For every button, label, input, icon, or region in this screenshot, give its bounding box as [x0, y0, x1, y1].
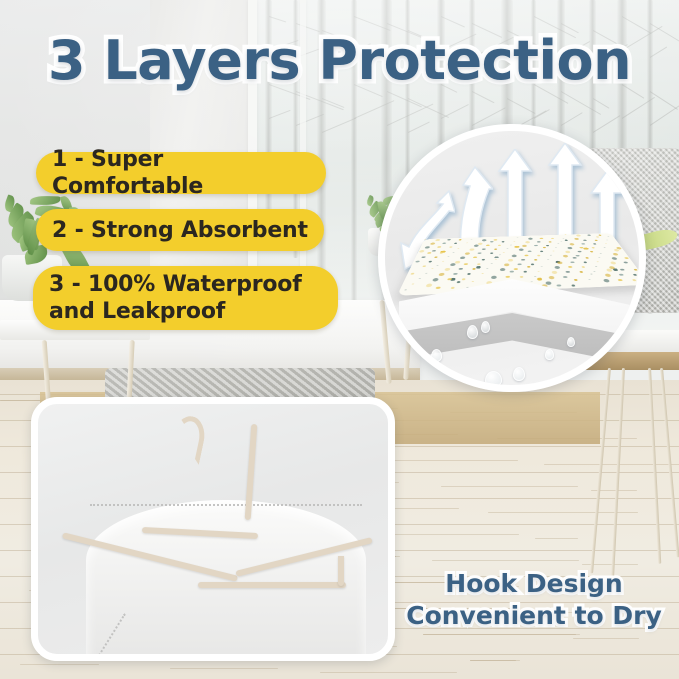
floral-motif	[579, 271, 583, 273]
floral-motif	[633, 274, 638, 276]
floral-motif	[548, 276, 554, 279]
floral-motif	[574, 279, 578, 281]
floral-motif	[585, 257, 589, 259]
floral-motif	[465, 252, 470, 255]
floral-motif	[569, 243, 575, 245]
floral-motif	[472, 268, 475, 270]
hanger-hook-icon	[168, 413, 209, 465]
benefit-pill-1-label: 1 - Super Comfortable	[36, 146, 326, 200]
floral-motif	[473, 256, 477, 258]
wood-grain	[170, 668, 278, 669]
floral-motif	[596, 236, 599, 237]
floral-motif	[500, 268, 505, 271]
floral-motif	[612, 253, 618, 256]
floral-motif	[522, 245, 527, 247]
water-droplet-icon	[545, 349, 554, 360]
floral-motif	[415, 261, 420, 263]
floral-motif	[623, 262, 628, 264]
floral-motif	[583, 261, 587, 263]
floral-motif	[537, 255, 540, 257]
floral-motif	[494, 248, 497, 250]
floral-motif	[469, 248, 474, 251]
floral-motif	[490, 252, 493, 254]
floral-motif	[552, 251, 554, 252]
floral-motif	[604, 274, 611, 277]
floral-motif	[519, 248, 524, 251]
floral-motif	[534, 259, 537, 261]
floral-motif	[464, 263, 468, 265]
benefit-pill-2: 2 - Strong Absorbent	[36, 209, 324, 251]
floral-motif	[491, 263, 493, 264]
floral-motif	[490, 241, 494, 242]
three-layer-callout-circle	[378, 124, 646, 392]
floral-motif	[451, 287, 455, 289]
floral-motif	[583, 240, 587, 241]
floral-motif	[610, 262, 617, 265]
floral-motif	[462, 278, 466, 280]
waterproof-sheet	[86, 500, 366, 661]
floral-motif	[531, 263, 534, 265]
floral-motif	[486, 268, 488, 269]
wood-grain	[432, 560, 579, 561]
floral-motif	[546, 245, 549, 246]
floral-motif	[597, 262, 599, 263]
floral-motif	[499, 255, 501, 256]
wood-grain	[441, 486, 578, 487]
floral-motif	[520, 276, 524, 278]
floral-motif	[594, 240, 597, 241]
sheet-hem	[90, 504, 362, 506]
floral-motif	[545, 281, 551, 285]
water-droplet-icon	[431, 349, 442, 362]
floral-motif	[436, 265, 438, 266]
floral-motif	[427, 252, 432, 254]
floral-motif	[508, 259, 513, 262]
floral-motif	[412, 284, 415, 285]
floral-motif	[587, 235, 591, 236]
floral-motif	[482, 273, 484, 274]
hanger-corner	[338, 556, 344, 586]
floral-motif	[555, 247, 557, 248]
floral-motif	[430, 243, 436, 245]
floral-motif	[424, 246, 430, 248]
floral-motif	[447, 278, 452, 280]
floral-motif	[477, 263, 480, 265]
floral-motif	[458, 268, 463, 270]
floral-motif	[543, 247, 546, 248]
floral-motif	[590, 274, 592, 275]
floral-motif	[453, 273, 458, 275]
floral-motif	[540, 251, 543, 253]
floral-motif	[571, 284, 575, 286]
floral-motif	[410, 273, 414, 275]
floral-motif	[531, 281, 533, 282]
hanger-crossbar	[198, 582, 346, 588]
wood-grain	[470, 660, 516, 661]
floral-motif	[517, 263, 521, 265]
floral-motif	[494, 239, 498, 240]
floral-motif	[482, 239, 487, 241]
benefit-pill-2-label: 2 - Strong Absorbent	[36, 217, 324, 244]
floral-motif	[534, 276, 536, 277]
floral-motif	[505, 276, 509, 278]
floral-motif	[467, 273, 471, 275]
floral-motif	[534, 245, 538, 246]
floral-motif	[472, 281, 474, 282]
floral-motif	[588, 279, 590, 280]
floral-motif	[434, 256, 438, 258]
floral-motif	[431, 268, 433, 269]
floral-motif	[514, 268, 518, 270]
floral-motif	[598, 257, 600, 258]
wood-grain	[535, 538, 578, 539]
floral-motif	[619, 274, 624, 276]
floral-motif	[576, 234, 581, 236]
benefit-pill-3: 3 - 100% Waterproof and Leakproof	[33, 266, 338, 330]
floral-motif	[541, 266, 543, 267]
water-droplet-icon	[467, 325, 478, 339]
floral-motif	[449, 246, 452, 247]
floral-motif	[507, 249, 509, 250]
wood-grain	[320, 672, 457, 673]
floral-motif	[455, 261, 461, 264]
floral-motif	[537, 271, 539, 272]
floral-motif	[605, 243, 607, 244]
floral-motif	[478, 252, 482, 254]
floral-motif	[540, 238, 544, 239]
wood-grain	[385, 534, 519, 535]
floral-motif	[442, 243, 446, 244]
wood-grain	[423, 634, 576, 635]
floral-motif	[421, 256, 426, 258]
floral-motif	[581, 266, 585, 268]
floral-motif	[482, 248, 486, 250]
floral-motif	[551, 271, 557, 274]
floral-motif	[577, 251, 581, 253]
hanger-hook-photo	[31, 397, 395, 661]
hook-caption-line1: Hook Design	[398, 568, 670, 600]
floral-motif	[593, 271, 595, 272]
water-droplet-icon	[481, 321, 490, 333]
floral-motif	[491, 276, 497, 279]
floral-motif	[603, 279, 610, 283]
water-droplet-icon	[485, 371, 502, 387]
floral-motif	[593, 243, 596, 244]
floral-motif	[557, 261, 563, 264]
floral-motif	[419, 278, 422, 279]
floral-motif	[624, 257, 629, 259]
wood-grain	[394, 460, 518, 461]
floral-motif	[568, 266, 573, 268]
floral-motif	[556, 284, 561, 286]
floral-motif	[527, 266, 530, 268]
floral-motif	[498, 245, 501, 246]
floral-motif	[512, 255, 517, 258]
floral-motif	[554, 266, 560, 269]
benefit-pill-3-label: 3 - 100% Waterproof and Leakproof	[33, 271, 338, 325]
floral-motif	[454, 243, 457, 244]
floral-motif	[537, 241, 541, 242]
floral-motif	[447, 239, 451, 240]
wood-grain	[20, 664, 99, 665]
floral-motif	[432, 278, 439, 282]
floral-motif	[438, 273, 444, 276]
floral-motif	[575, 255, 580, 257]
floral-motif	[549, 241, 552, 242]
floral-motif	[524, 271, 527, 273]
floral-motif	[457, 281, 461, 283]
floral-motif	[521, 259, 525, 261]
floral-motif	[524, 255, 528, 257]
floral-motif	[565, 251, 571, 254]
floral-motif	[447, 256, 449, 257]
floral-motif	[460, 256, 466, 259]
floral-motif	[590, 251, 594, 253]
floral-motif	[435, 239, 440, 241]
wood-grain	[573, 638, 639, 639]
floral-motif	[442, 261, 444, 262]
floral-motif	[435, 287, 440, 289]
floral-motif	[457, 248, 459, 249]
floral-motif	[611, 257, 618, 260]
floral-motif	[503, 252, 505, 253]
floral-motif	[528, 251, 532, 253]
floral-motif	[565, 271, 570, 273]
floral-motif	[466, 287, 468, 288]
floral-motif	[428, 261, 432, 263]
floral-motif	[598, 235, 601, 236]
floral-motif	[495, 259, 497, 260]
floral-motif	[440, 252, 443, 254]
water-droplet-icon	[513, 367, 525, 381]
floral-motif	[404, 289, 407, 290]
floral-motif	[425, 273, 427, 274]
floral-motif	[525, 241, 530, 243]
floral-motif	[444, 268, 450, 271]
floral-motif	[591, 247, 595, 248]
floral-motif	[620, 269, 625, 271]
floral-motif	[581, 243, 585, 244]
floral-motif	[510, 271, 514, 273]
floral-motif	[547, 259, 549, 260]
floral-motif	[632, 279, 637, 281]
floral-motif	[482, 259, 485, 261]
hook-caption: Hook Design Convenient to Dry	[398, 568, 670, 632]
floral-motif	[419, 250, 425, 253]
floral-motif	[426, 284, 433, 288]
floral-motif	[595, 266, 597, 267]
floral-motif	[633, 269, 637, 271]
floral-motif	[502, 241, 505, 242]
floral-motif	[600, 253, 602, 254]
floral-motif	[617, 279, 623, 281]
floral-motif	[504, 263, 509, 266]
floral-motif	[563, 276, 568, 278]
floral-motif	[551, 238, 554, 239]
floral-motif	[570, 261, 575, 263]
floral-motif	[459, 239, 462, 240]
floral-motif	[550, 255, 552, 256]
benefit-pill-1: 1 - Super Comfortable	[36, 152, 326, 194]
floral-motif	[572, 257, 577, 259]
floral-motif	[510, 245, 512, 246]
floral-motif	[604, 247, 606, 248]
wood-grain	[544, 464, 679, 465]
floral-motif	[579, 247, 583, 249]
floral-motif	[574, 238, 579, 240]
product-infographic: 3 Layers Protection 1 - Super Comfortabl…	[0, 0, 679, 679]
floral-motif	[437, 246, 441, 248]
water-droplet-icon	[567, 337, 575, 347]
floral-motif	[563, 255, 569, 258]
floral-motif	[432, 250, 436, 252]
floral-motif	[453, 252, 455, 253]
hook-caption-line2: Convenient to Dry	[398, 600, 670, 632]
floral-motif	[478, 243, 483, 245]
floral-motif	[486, 245, 490, 246]
floral-motif	[567, 247, 573, 249]
floral-motif	[422, 265, 426, 267]
page-title: 3 Layers Protection	[0, 30, 679, 92]
floral-motif	[528, 238, 533, 240]
